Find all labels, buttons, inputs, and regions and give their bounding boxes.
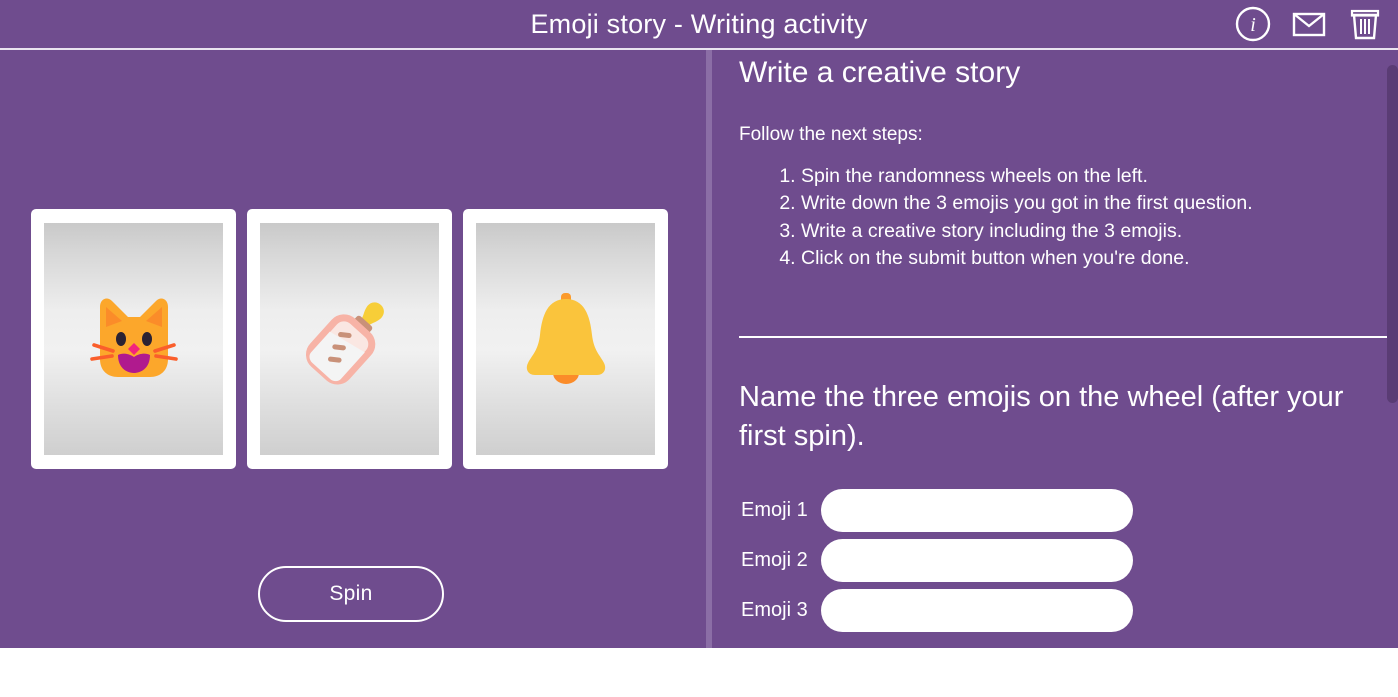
title-bar: Emoji story - Writing activity i (0, 0, 1398, 50)
emoji-card-face (476, 223, 655, 455)
emoji-card-face (260, 223, 439, 455)
emoji-card[interactable] (247, 209, 452, 469)
emoji-3-input[interactable] (821, 589, 1133, 632)
emoji-card-list (31, 209, 668, 469)
question-title: Name the three emojis on the wheel (afte… (739, 378, 1364, 456)
field-row: Emoji 2 (727, 539, 1387, 582)
baby-bottle-emoji (296, 287, 404, 391)
list-item: Spin the randomness wheels on the left. (801, 163, 1361, 190)
svg-text:i: i (1250, 14, 1256, 36)
emoji-card-face (44, 223, 223, 455)
instructions-step-list: Spin the randomness wheels on the left. … (775, 163, 1361, 272)
emoji-1-label: Emoji 1 (727, 499, 821, 522)
instructions-section: Write a creative story Follow the next s… (739, 50, 1375, 96)
emoji-card[interactable] (31, 209, 236, 469)
scrollbar-thumb[interactable] (1387, 65, 1398, 403)
instructions-lead: Follow the next steps: (739, 122, 923, 148)
list-item: Write down the 3 emojis you got in the f… (801, 190, 1361, 217)
panel-divider-bar (706, 50, 712, 648)
info-icon[interactable]: i (1232, 3, 1274, 45)
field-row: Emoji 3 (727, 589, 1387, 632)
activity-content-panel: Write a creative story Follow the next s… (715, 50, 1398, 648)
emoji-2-label: Emoji 2 (727, 549, 821, 572)
trash-icon[interactable] (1344, 3, 1386, 45)
panel-divider (703, 50, 715, 648)
emoji-3-label: Emoji 3 (727, 599, 821, 622)
list-item: Click on the submit button when you're d… (801, 245, 1361, 272)
section-divider (739, 336, 1398, 338)
list-item: Write a creative story including the 3 e… (801, 218, 1361, 245)
activity-window: Emoji story - Writing activity i (0, 0, 1398, 648)
emoji-1-input[interactable] (821, 489, 1133, 532)
title-bar-actions: i (1232, 3, 1386, 45)
field-row: Emoji 1 (727, 489, 1387, 532)
page-title: Emoji story - Writing activity (0, 0, 1398, 48)
emoji-2-input[interactable] (821, 539, 1133, 582)
emoji-card[interactable] (463, 209, 668, 469)
mail-icon[interactable] (1288, 3, 1330, 45)
spin-button-container: Spin (0, 566, 702, 622)
emoji-answer-fields: Emoji 1 Emoji 2 Emoji 3 (727, 489, 1387, 639)
cat-face-emoji (80, 287, 188, 391)
randomness-wheels-panel: Spin (0, 50, 702, 648)
question-section: Name the three emojis on the wheel (afte… (739, 378, 1379, 456)
vertical-scrollbar[interactable] (1387, 50, 1398, 648)
bell-emoji (512, 287, 620, 391)
instructions-heading: Write a creative story (739, 50, 1375, 96)
spin-button[interactable]: Spin (258, 566, 444, 622)
